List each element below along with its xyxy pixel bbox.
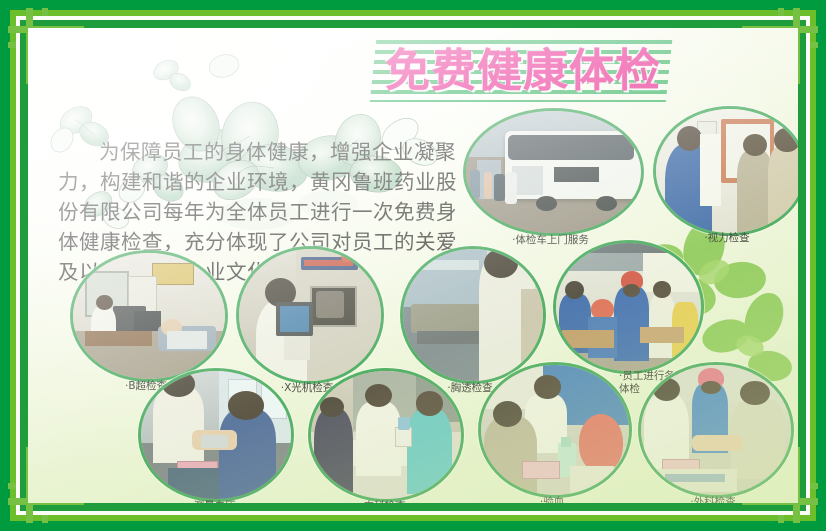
photo-blood-test-image [478, 362, 632, 498]
poster-canvas: 免费健康体检 为保障员工的身体健康，增强企业凝聚力，构建和谐的企业环境，黄冈鲁班… [28, 28, 798, 503]
photo-surgery-check-image [638, 362, 794, 498]
photo-department-rounds-image [553, 240, 704, 374]
photo-department-rounds-caption: ·员工进行各科室体检 [619, 370, 703, 396]
photo-internal-medicine-image [308, 368, 464, 502]
green-leaf-cluster-decoration-icon [564, 218, 798, 503]
photo-blood-test-caption: ·验血 [540, 496, 564, 503]
photo-chest-fluoroscopy: ·胸透检查 [400, 246, 540, 378]
photo-medical-bus-caption: ·体检车上门服务 [512, 234, 589, 247]
photo-internal-medicine-caption: ·内科检查 [360, 500, 405, 503]
health-checkup-poster: 免费健康体检 为保障员工的身体健康，增强企业凝聚力，构建和谐的企业环境，黄冈鲁班… [0, 0, 826, 531]
photo-internal-medicine: ·内科检查 [308, 368, 458, 496]
photo-chest-fluoroscopy-image [400, 246, 546, 384]
photo-blood-test: ·验血 [478, 362, 626, 492]
photo-blood-pressure-caption: ·测量血压 [190, 500, 235, 503]
photo-chest-fluoroscopy-caption: ·胸透检查 [447, 382, 492, 395]
photo-ultrasound-caption: ·B超检查 [125, 380, 167, 393]
photo-ultrasound: ·B超检查 [70, 250, 222, 376]
photo-surgery-check: ·外科检查 [638, 362, 788, 492]
poster-title-text: 免费健康体检 [385, 38, 685, 104]
poster-body-text: 为保障员工的身体健康，增强企业凝聚力，构建和谐的企业环境，黄冈鲁班药业股份有限公… [58, 137, 468, 287]
photo-xray-machine: ·X光机检查 [236, 246, 378, 378]
photo-ultrasound-image [70, 250, 228, 382]
poster-title: 免费健康体检 [373, 36, 693, 108]
photo-vision-test-caption: ·视力检查 [704, 232, 749, 245]
photo-medical-bus: ·体检车上门服务 [463, 108, 638, 230]
photo-department-rounds: ·员工进行各科室体检 [553, 240, 698, 368]
watercolor-flowers-decoration-icon [28, 28, 458, 243]
title-stripe-background [370, 40, 673, 102]
photo-medical-bus-image [463, 108, 644, 236]
photo-surgery-check-caption: ·外科检查 [690, 496, 735, 503]
photo-blood-pressure: ·测量血压 [138, 368, 288, 496]
photo-xray-machine-image [236, 246, 384, 384]
photo-xray-machine-caption: ·X光机检查 [281, 382, 334, 395]
photo-vision-test-image [653, 106, 798, 236]
photo-blood-pressure-image [138, 368, 294, 502]
photo-vision-test: ·视力检查 [653, 106, 798, 230]
